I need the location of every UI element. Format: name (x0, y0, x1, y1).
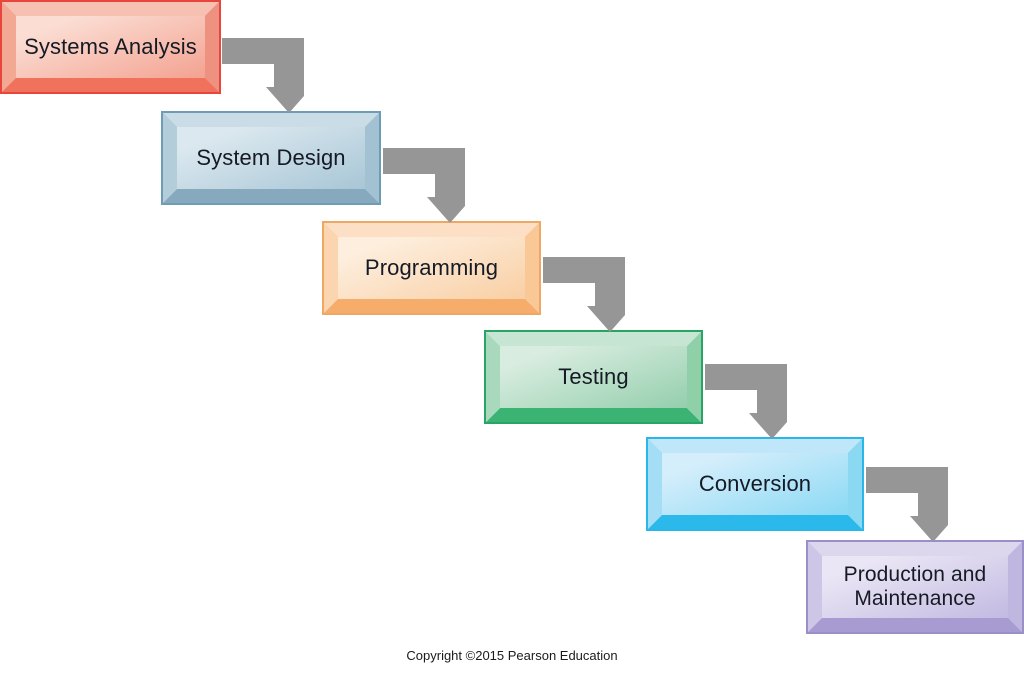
bevel-left (163, 113, 177, 203)
process-box-label: Testing (558, 365, 628, 390)
box-inner-panel: Systems Analysis (16, 16, 205, 78)
box-inner-panel: System Design (177, 127, 365, 189)
bevel-right (205, 2, 219, 92)
box-inner-panel: Programming (338, 237, 525, 299)
bevel-bottom (2, 78, 219, 92)
elbow-arrow-icon (222, 38, 304, 113)
bevel-bottom (324, 299, 539, 313)
process-box-production-and-maintenance[interactable]: Production and Maintenance (806, 540, 1024, 634)
bevel-left (648, 439, 662, 529)
box-inner-panel: Testing (500, 346, 687, 408)
bevel-left (2, 2, 16, 92)
process-box-label: Systems Analysis (24, 35, 197, 60)
process-box-system-design[interactable]: System Design (161, 111, 381, 205)
bevel-top (2, 2, 219, 16)
bevel-top (808, 542, 1022, 556)
bevel-bottom (163, 189, 379, 203)
elbow-arrow-icon (705, 364, 787, 439)
bevel-bottom (808, 618, 1022, 632)
bevel-bottom (648, 515, 862, 529)
bevel-top (648, 439, 862, 453)
elbow-arrow-icon (383, 148, 465, 223)
bevel-right (848, 439, 862, 529)
bevel-right (525, 223, 539, 313)
box-inner-panel: Conversion (662, 453, 848, 515)
process-box-label: System Design (196, 146, 345, 171)
bevel-left (486, 332, 500, 422)
bevel-right (365, 113, 379, 203)
process-box-label: Programming (365, 256, 498, 281)
copyright-notice: Copyright ©2015 Pearson Education (0, 648, 1024, 663)
bevel-right (1008, 542, 1022, 632)
bevel-top (486, 332, 701, 346)
elbow-arrow-icon (543, 257, 625, 332)
process-box-programming[interactable]: Programming (322, 221, 541, 315)
bevel-top (163, 113, 379, 127)
elbow-arrow-icon (866, 467, 948, 542)
bevel-bottom (486, 408, 701, 422)
process-box-testing[interactable]: Testing (484, 330, 703, 424)
bevel-top (324, 223, 539, 237)
bevel-left (324, 223, 338, 313)
process-box-label: Production and Maintenance (844, 563, 987, 610)
bevel-left (808, 542, 822, 632)
diagram-canvas: Systems Analysis System Design Programmi… (0, 0, 1024, 676)
bevel-right (687, 332, 701, 422)
process-box-label: Conversion (699, 472, 811, 497)
process-box-systems-analysis[interactable]: Systems Analysis (0, 0, 221, 94)
process-box-conversion[interactable]: Conversion (646, 437, 864, 531)
box-inner-panel: Production and Maintenance (822, 556, 1008, 618)
